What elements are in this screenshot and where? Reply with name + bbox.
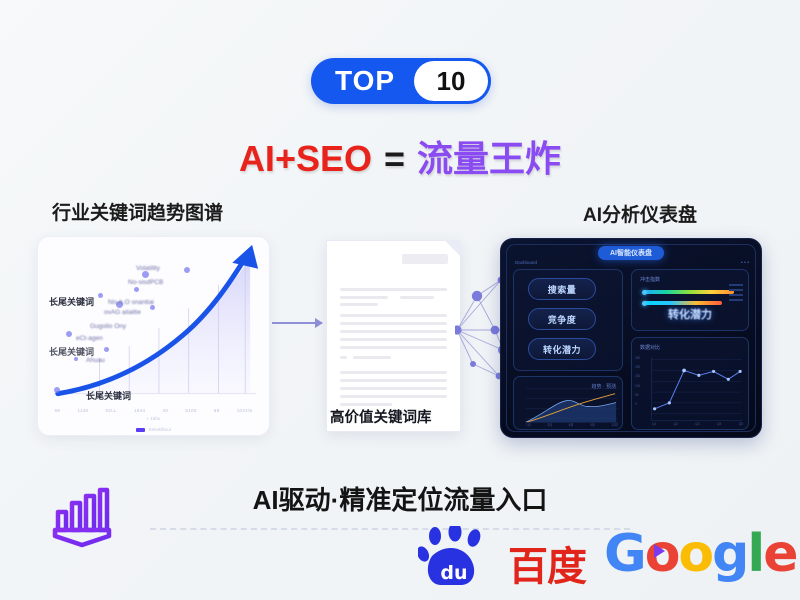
chart-dot: [104, 347, 109, 352]
x-tick: 69: [214, 408, 220, 413]
document-header-block: [402, 254, 448, 264]
x-tick: 5100: [185, 408, 196, 413]
line-chart-svg: [632, 338, 748, 429]
area-chart-x-axis: 1月 3月 6月 9月 12月: [526, 422, 618, 427]
google-wordmark: Google: [604, 524, 797, 584]
x-tick: 02LL: [106, 408, 117, 413]
google-letter-o2: o: [678, 524, 712, 584]
analytics-pedestal-icon: [48, 482, 116, 552]
top-rank-badge: TOP 10: [311, 58, 491, 104]
gauge-panel-title: 冲击指数: [640, 276, 660, 283]
right-section-caption: AI分析仪表盘: [583, 200, 697, 227]
chart-blur-word: Volatility: [136, 265, 160, 272]
legend-swatch-icon: [136, 428, 145, 432]
y-tick: 0: [635, 402, 640, 406]
flow-arrow-icon: [272, 322, 322, 324]
chart-blur-word: Gugolio Ony: [90, 323, 126, 330]
chart-dot: [54, 387, 60, 393]
y-tick: 50: [635, 393, 640, 397]
y-tick: 100: [635, 384, 640, 388]
search-engine-logos: du 百度 Google: [418, 518, 758, 588]
top-badge-number: 10: [414, 61, 488, 101]
chart-dot: [184, 267, 190, 273]
dashboard-title-badge: AI智能仪表盘: [598, 246, 664, 260]
google-letter-e: e: [763, 524, 796, 584]
x-tick: 69: [55, 408, 61, 413]
baidu-du-text: du: [440, 562, 467, 584]
baidu-wordmark: 百度: [508, 534, 586, 592]
chart-blur-word: No-sisdPCB: [128, 279, 163, 286]
chart-blur-word: Ahuau: [86, 357, 105, 364]
x-tick: Q4: [717, 422, 721, 426]
gauge-bar-secondary: [644, 301, 722, 305]
gauge-overlay-label: 转化潜力: [632, 306, 748, 322]
ai-dashboard-panel: AI智能仪表盘 Dashboard • • • 搜索量 竞争度 转化潜力 冲击指…: [500, 238, 762, 438]
middle-section-caption: 高价值关键词库: [330, 406, 432, 427]
footer-tagline: AI驱动·精准定位流量入口: [0, 480, 800, 517]
x-tick: Q3: [695, 422, 699, 426]
headline-right: 流量王炸: [417, 138, 561, 179]
metric-pill-search-volume[interactable]: 搜索量: [528, 278, 596, 300]
x-tick: Q5: [739, 422, 743, 426]
gauge-panel: 冲击指数 转化潜力: [631, 269, 749, 331]
x-tick: 1844: [134, 408, 145, 413]
chart-dot: [98, 293, 103, 298]
dashboard-menu-icon[interactable]: • • •: [741, 260, 749, 266]
keyword-document: [326, 240, 461, 432]
y-tick: 150: [635, 374, 640, 378]
y-tick: 250: [635, 356, 640, 360]
google-letter-G: G: [604, 524, 645, 584]
google-letter-g: g: [712, 524, 747, 584]
trend-x-axis: 69 1140 02LL 1844 40 5100 69 1024/5: [46, 408, 261, 413]
x-tick: 12月: [611, 422, 618, 427]
baidu-paw-logo-icon: du: [418, 526, 508, 588]
headline-equals: =: [384, 138, 405, 179]
metric-pill-conversion[interactable]: 转化潜力: [528, 338, 596, 360]
chart-dot: [66, 331, 72, 337]
chart-blur-word: eCt-agen: [76, 335, 103, 342]
x-tick: Q2: [674, 422, 678, 426]
x-tick: 1月: [526, 422, 531, 427]
gauge-ticks: [729, 284, 743, 301]
chart-blur-word: Nis,b,O snantiai: [108, 299, 154, 306]
metric-pill-competition[interactable]: 竞争度: [528, 308, 596, 330]
trend-x-title: + 15hu: [38, 416, 269, 421]
trend-legend: Ketrebfiviur: [38, 427, 269, 432]
line-chart-panel: 数据对比: [631, 337, 749, 430]
area-chart-panel: 趋势 · 预测 1月 3月 6月 9月 12月: [513, 376, 623, 430]
trend-chart-card: Volatility No-sisdPCB Nis,b,O snantiai o…: [37, 236, 270, 436]
metric-pill-panel: 搜索量 竞争度 转化潜力: [513, 269, 623, 371]
play-arrow-icon: [654, 544, 665, 558]
x-tick: 1024/5: [237, 408, 253, 413]
chart-dot: [142, 271, 149, 278]
y-tick: 200: [635, 365, 640, 369]
line-chart-x-axis: Q1 Q2 Q3 Q4 Q5: [652, 422, 743, 426]
x-tick: Q1: [652, 422, 656, 426]
trend-keyword-label: 长尾关键词: [49, 345, 94, 358]
gauge-marker-icon: [642, 290, 647, 295]
chart-dot: [134, 287, 139, 292]
trend-keyword-label: 长尾关键词: [49, 295, 94, 308]
headline-left: AI+SEO: [239, 138, 372, 179]
legend-label: Ketrebfiviur: [149, 427, 172, 432]
gauge-bar-primary: [644, 290, 734, 294]
page-title: AI+SEO=流量王炸: [0, 130, 800, 182]
trend-keyword-label: 长尾关键词: [86, 389, 131, 402]
left-section-caption: 行业关键词趋势图谱: [52, 198, 223, 225]
top-badge-label: TOP: [335, 65, 395, 97]
google-letter-l: l: [747, 524, 763, 584]
line-chart-y-axis: 250 200 150 100 50 0: [635, 356, 640, 406]
dashboard-corner-label: Dashboard: [515, 260, 537, 265]
chart-blur-word: ovAG ailaitte: [104, 309, 141, 316]
x-tick: 6月: [569, 422, 574, 427]
x-tick: 3月: [547, 422, 552, 427]
x-tick: 9月: [590, 422, 595, 427]
slide-canvas: TOP 10 AI+SEO=流量王炸 行业关键词趋势图谱 AI分析仪表盘: [0, 0, 800, 600]
x-tick: 40: [163, 408, 169, 413]
x-tick: 1140: [77, 408, 88, 413]
document-page: [326, 240, 461, 432]
